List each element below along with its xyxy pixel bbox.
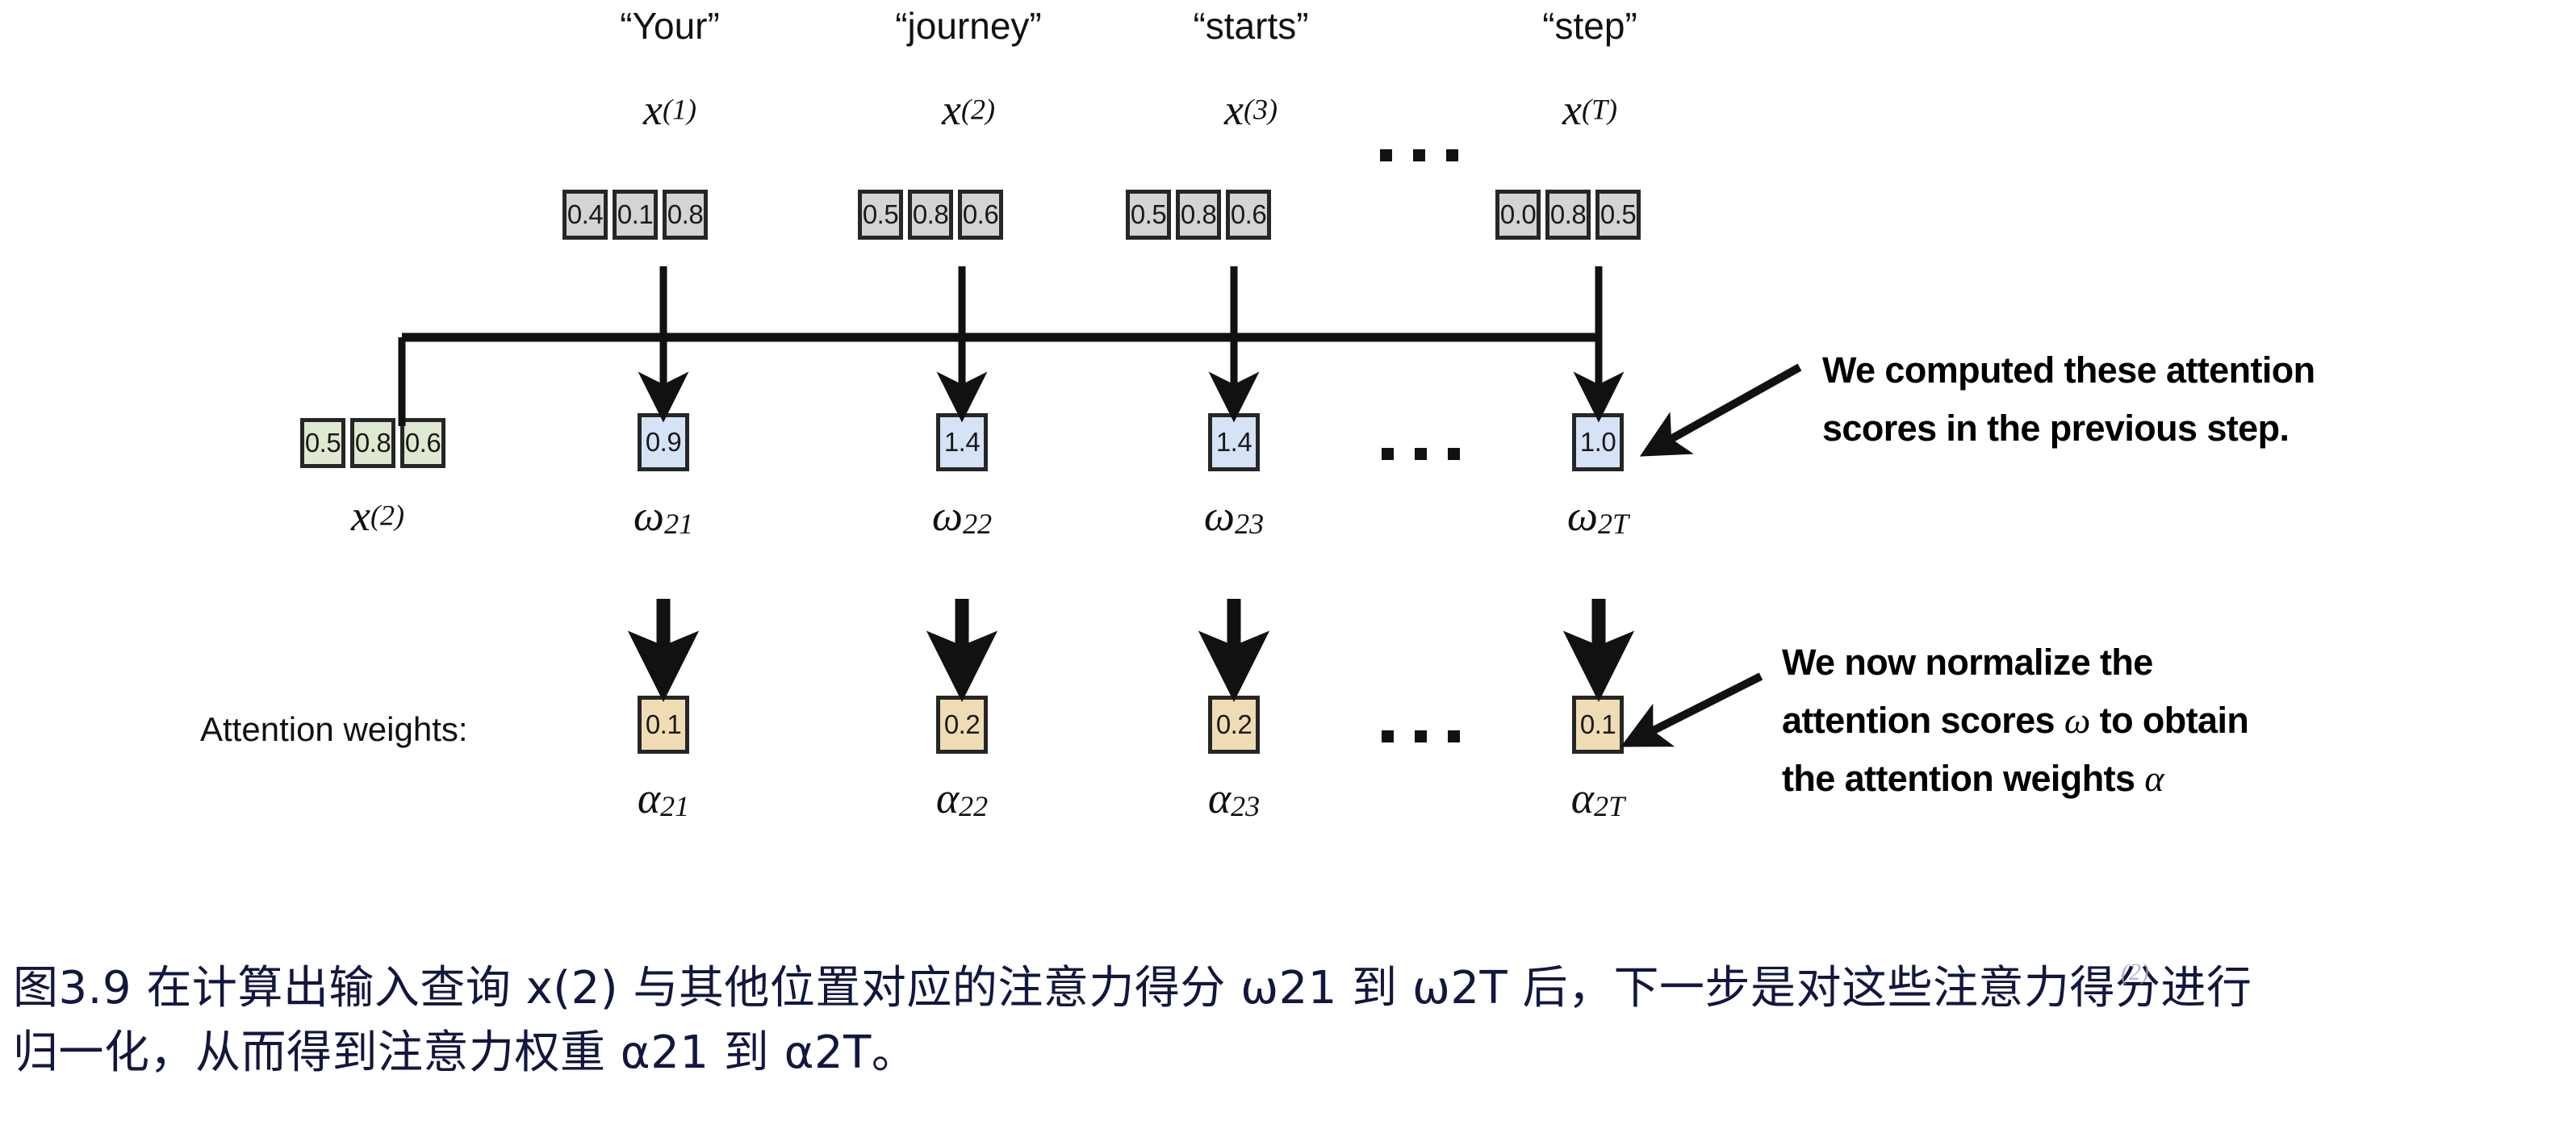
weight-label-sub: 21 [660, 790, 689, 822]
input-cell: 0.8 [1545, 190, 1591, 240]
weight-label-sub: 2T [1594, 790, 1625, 822]
annotation-weights-line3: the attention weights α [1782, 754, 2164, 804]
annotation-weights-line2-b: to obtain [2090, 700, 2248, 741]
token-symbol-4: x(T) [1497, 85, 1683, 135]
score-label-sub: 2T [1598, 508, 1629, 540]
attention-weight-box-4: 0.1 [1572, 696, 1624, 754]
attention-weights-row-label: Attention weights: [200, 710, 468, 749]
attention-weight-label-2: α22 [910, 773, 1014, 823]
input-cell: 0.5 [858, 190, 903, 240]
input-vector-4: 0.0 0.8 0.5 [1495, 190, 1641, 240]
attention-weight-box-1: 0.1 [638, 696, 689, 754]
ellipsis-dot [1448, 448, 1460, 460]
ellipsis-dot [1380, 149, 1392, 161]
input-cell: 0.5 [1126, 190, 1171, 240]
token-word-3: “starts” [1150, 4, 1352, 48]
input-cell: 0.8 [908, 190, 953, 240]
score-label-base: ω [1567, 491, 1598, 540]
query-label-base: x [351, 491, 370, 540]
ellipsis-token-row [1380, 149, 1458, 161]
ellipsis-dot [1382, 730, 1394, 742]
query-cell: 0.5 [300, 418, 345, 468]
score-label-sub: 22 [963, 508, 992, 540]
token-symbol-base-1: x [643, 86, 663, 134]
caption-line-1: 图3.9 在计算出输入查询 x(2) 与其他位置对应的注意力得分 ω21 到 ω… [13, 956, 2571, 1021]
query-cell: 0.8 [350, 418, 395, 468]
token-symbol-base-3: x [1224, 86, 1244, 134]
attention-weight-box-3: 0.2 [1208, 696, 1260, 754]
attention-score-label-3: ω23 [1182, 491, 1286, 541]
bracket-bar [402, 337, 1599, 426]
ellipsis-dot [1415, 448, 1427, 460]
weight-label-base: α [1208, 774, 1231, 822]
input-vector-2: 0.5 0.8 0.6 [858, 190, 1003, 240]
caption-line-2: 归一化，从而得到注意力权重 α21 到 α2T。 [13, 1021, 2571, 1085]
ellipsis-dot [1415, 730, 1427, 742]
input-vector-1: 0.4 0.1 0.8 [562, 190, 708, 240]
query-vector: 0.5 0.8 0.6 [300, 418, 445, 468]
annotation-scores-arrow [1661, 367, 1800, 445]
token-symbol-sup-1: (1) [663, 94, 696, 126]
ellipsis-score-row [1382, 448, 1460, 460]
weight-label-sub: 23 [1231, 790, 1260, 822]
token-symbol-base-2: x [942, 86, 961, 134]
query-cell: 0.6 [400, 418, 445, 468]
alpha-symbol: α [2144, 758, 2164, 799]
figure-canvas: “Your” “journey” “starts” “step” x(1) x(… [0, 0, 2576, 1125]
attention-score-box-2: 1.4 [936, 413, 988, 471]
ellipsis-dot [1382, 448, 1394, 460]
token-word-2: “journey” [851, 4, 1085, 48]
input-cell: 0.5 [1595, 190, 1641, 240]
weight-label-base: α [1571, 774, 1594, 822]
attention-score-box-3: 1.4 [1208, 413, 1260, 471]
attention-score-box-4: 1.0 [1572, 413, 1624, 471]
token-symbol-1: x(1) [581, 85, 759, 135]
annotation-weights-line2-a: attention scores [1782, 700, 2064, 741]
score-label-sub: 21 [664, 508, 693, 540]
weight-label-base: α [638, 774, 660, 822]
ellipsis-dot [1446, 149, 1458, 161]
attention-score-label-1: ω21 [612, 491, 715, 541]
annotation-weights-line1: We now normalize the [1782, 638, 2153, 688]
score-label-base: ω [932, 491, 963, 540]
ellipsis-weight-row [1382, 730, 1460, 742]
annotation-scores-line2: scores in the previous step. [1822, 404, 2289, 454]
token-symbol-sup-3: (3) [1244, 94, 1278, 126]
weight-label-base: α [936, 774, 959, 822]
score-label-base: ω [634, 491, 664, 540]
ellipsis-dot [1413, 149, 1425, 161]
annotation-weights-line3-a: the attention weights [1782, 758, 2144, 799]
token-word-4: “step” [1497, 4, 1683, 48]
input-cell: 0.4 [562, 190, 608, 240]
token-word-1: “Your” [581, 4, 759, 48]
input-cell: 0.1 [613, 190, 658, 240]
attention-score-label-2: ω22 [910, 491, 1014, 541]
input-cell: 0.8 [663, 190, 708, 240]
caption-artifact-superscript: (2) [2121, 959, 2149, 986]
omega-symbol: ω [2064, 700, 2090, 741]
ellipsis-dot [1448, 730, 1460, 742]
input-cell: 0.6 [958, 190, 1003, 240]
figure-caption: 图3.9 在计算出输入查询 x(2) 与其他位置对应的注意力得分 ω21 到 ω… [13, 956, 2571, 1085]
attention-weight-label-4: α2T [1543, 773, 1653, 823]
input-to-score-arrows [663, 266, 1599, 397]
query-vector-label: x(2) [300, 491, 455, 541]
attention-score-label-4: ω2T [1543, 491, 1653, 541]
input-cell: 0.6 [1226, 190, 1271, 240]
score-label-sub: 23 [1235, 508, 1264, 540]
score-to-weight-arrows [663, 599, 1599, 663]
attention-weight-label-3: α23 [1182, 773, 1286, 823]
attention-weight-box-2: 0.2 [936, 696, 988, 754]
token-symbol-sup-2: (2) [961, 94, 995, 126]
input-cell: 0.8 [1176, 190, 1221, 240]
annotation-scores-line1: We computed these attention [1822, 345, 2315, 395]
attention-weight-label-1: α21 [612, 773, 715, 823]
token-symbol-2: x(2) [851, 85, 1085, 135]
input-vector-3: 0.5 0.8 0.6 [1126, 190, 1271, 240]
token-symbol-base-4: x [1562, 86, 1582, 134]
attention-score-box-1: 0.9 [638, 413, 689, 471]
input-cell: 0.0 [1495, 190, 1541, 240]
annotation-weights-line2: attention scores ω to obtain [1782, 696, 2248, 746]
query-label-sup: (2) [370, 500, 404, 532]
weight-label-sub: 22 [959, 790, 988, 822]
token-symbol-sup-4: (T) [1582, 94, 1617, 126]
token-symbol-3: x(3) [1150, 85, 1352, 135]
annotation-weights-arrow [1642, 676, 1761, 736]
score-label-base: ω [1204, 491, 1235, 540]
